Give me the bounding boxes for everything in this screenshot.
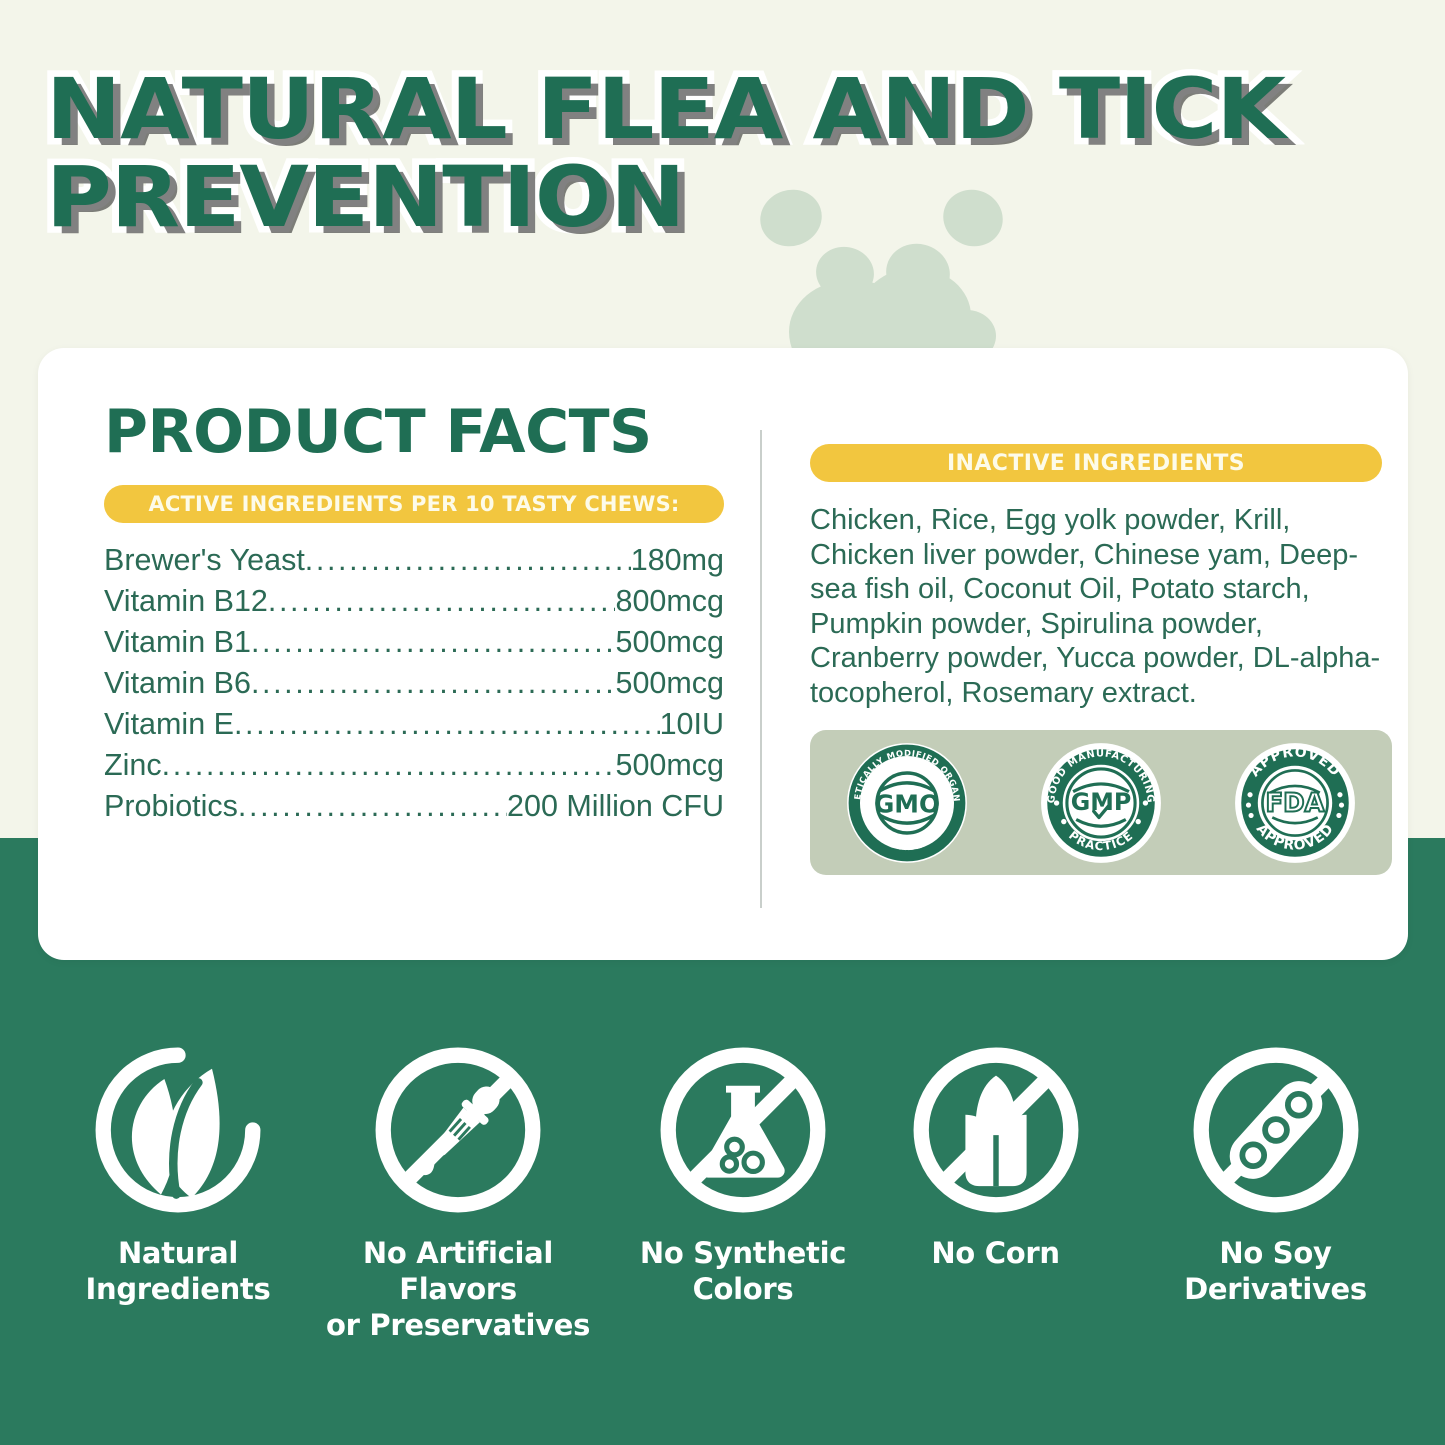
- no-corn-icon: [911, 1045, 1081, 1215]
- ingredient-value: 500mcg: [615, 622, 724, 663]
- ingredient-row: Vitamin B1..............................…: [104, 622, 724, 663]
- feature-label: No Synthetic Colors: [640, 1235, 846, 1307]
- ingredient-dot-leader: ..................................: [305, 540, 631, 581]
- column-divider: [760, 430, 762, 908]
- feature-natural-ingredients: Natural Ingredients: [58, 1045, 298, 1307]
- feature-label: No Corn: [931, 1235, 1059, 1271]
- feature-no-synthetic-colors: No Synthetic Colors: [618, 1045, 868, 1307]
- ingredient-row: Brewer's Yeast..........................…: [104, 540, 724, 581]
- ingredient-name: Probiotics: [104, 786, 238, 827]
- product-facts-heading: PRODUCT FACTS: [104, 402, 724, 462]
- inactive-ingredients-text: Chicken, Rice, Egg yolk powder, Krill, C…: [810, 503, 1390, 710]
- ingredient-name: Vitamin B6: [104, 663, 251, 704]
- ingredient-dot-leader: ........................................…: [234, 704, 660, 745]
- ingredient-name: Brewer's Yeast: [104, 540, 305, 581]
- active-ingredients-list: Brewer's Yeast..........................…: [104, 540, 724, 827]
- page-title: NATURAL FLEA AND TICK PREVENTION: [46, 68, 1366, 239]
- feature-no-soy-derivatives: No Soy Derivatives: [1133, 1045, 1418, 1307]
- gmo-center-text: GMO: [874, 789, 940, 818]
- title-line-2: PREVENTION: [46, 156, 1445, 238]
- ingredient-value: 500mcg: [615, 663, 724, 704]
- ingredient-row: Probiotics..........................200 …: [104, 786, 724, 827]
- fda-approved-badge: FDA APPROVED APPROVED: [1233, 741, 1357, 865]
- ingredient-row: Vitamin B12.............................…: [104, 581, 724, 622]
- inactive-ingredients-pill: INACTIVE INGREDIENTS: [810, 444, 1382, 482]
- ingredient-value: 200 Million CFU: [507, 786, 724, 827]
- ingredient-value: 800mcg: [615, 581, 724, 622]
- ingredient-name: Vitamin B1: [104, 622, 251, 663]
- no-flask-icon: [658, 1045, 828, 1215]
- ingredient-name: Zinc: [104, 745, 162, 786]
- active-ingredients-section: PRODUCT FACTS ACTIVE INGREDIENTS PER 10 …: [104, 402, 724, 827]
- ingredient-name: Vitamin E: [104, 704, 234, 745]
- certification-badges: GMO GENETICALLY MODIFIED ORGANISM • FREE…: [810, 730, 1392, 875]
- leaf-icon: [93, 1045, 263, 1215]
- gmp-center-text: GMP: [1071, 788, 1132, 816]
- inactive-ingredients-section: INACTIVE INGREDIENTS Chicken, Rice, Egg …: [810, 444, 1382, 875]
- title-line-1: NATURAL FLEA AND TICK: [46, 68, 1445, 150]
- gmo-free-badge: GMO GENETICALLY MODIFIED ORGANISM • FREE…: [845, 741, 969, 865]
- ingredient-name: Vitamin B12: [104, 581, 268, 622]
- no-soy-icon: [1191, 1045, 1361, 1215]
- feature-label: No Soy Derivatives: [1184, 1235, 1367, 1307]
- fda-center-text: FDA: [1265, 788, 1324, 818]
- feature-badges-row: Natural Ingredients No Artificial Flavor…: [0, 1045, 1445, 1343]
- ingredient-value: 500mcg: [615, 745, 724, 786]
- product-label-infographic: NATURAL FLEA AND TICK PREVENTION PRODUCT…: [0, 0, 1445, 1445]
- ingredient-dot-leader: ........................................…: [162, 745, 616, 786]
- ingredient-dot-leader: ......................................: [268, 581, 616, 622]
- ingredient-row: Vitamin B6..............................…: [104, 663, 724, 704]
- gmp-badge: GMP GOOD MANUFACTURING PRACTICE: [1039, 741, 1163, 865]
- feature-no-corn: No Corn: [888, 1045, 1103, 1271]
- facts-card: PRODUCT FACTS ACTIVE INGREDIENTS PER 10 …: [38, 348, 1408, 960]
- no-dropper-icon: [373, 1045, 543, 1215]
- feature-no-artificial-flavors: No Artificial Flavors or Preservatives: [308, 1045, 608, 1343]
- ingredient-dot-leader: ..........................: [238, 786, 507, 827]
- ingredient-row: Vitamin E...............................…: [104, 704, 724, 745]
- feature-label: Natural Ingredients: [85, 1235, 270, 1307]
- ingredient-value: 10IU: [660, 704, 724, 745]
- ingredient-dot-leader: ........................................: [251, 663, 616, 704]
- ingredient-row: Zinc....................................…: [104, 745, 724, 786]
- feature-label: No Artificial Flavors or Preservatives: [308, 1235, 608, 1343]
- ingredient-dot-leader: ........................................: [251, 622, 616, 663]
- ingredient-value: 180mg: [631, 540, 724, 581]
- active-ingredients-pill: ACTIVE INGREDIENTS PER 10 TASTY CHEWS:: [104, 485, 724, 523]
